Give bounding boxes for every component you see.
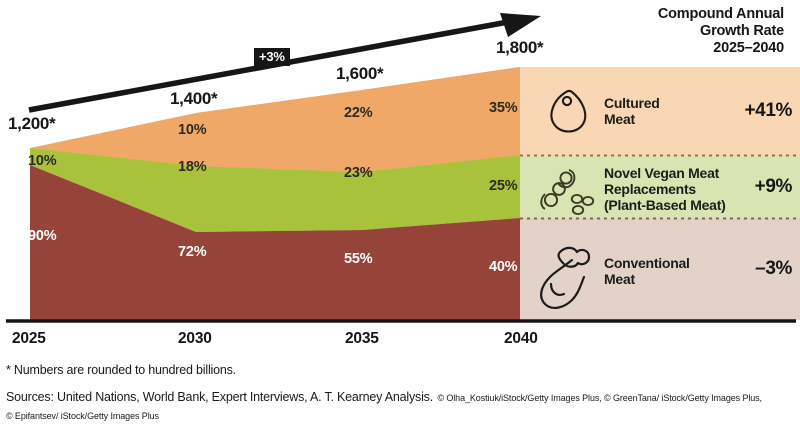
pct-cultured-2035: 22% — [344, 105, 372, 121]
legend-label-cultured: Cultured Meat — [604, 95, 660, 127]
legend-label-vegan-line2: Replacements — [604, 181, 726, 197]
legend-value-conventional: –3% — [730, 258, 792, 280]
pct-vegan-2025: 10% — [28, 153, 56, 169]
total-label-2035: 1,600* — [336, 64, 383, 84]
legend-label-cultured-line1: Cultured — [604, 95, 660, 111]
axis-year-2035: 2035 — [345, 330, 379, 348]
axis-year-2040: 2040 — [504, 330, 538, 348]
axis-year-2025: 2025 — [12, 330, 46, 348]
footnote-sources-main: Sources: United Nations, World Bank, Exp… — [6, 390, 433, 404]
pct-conventional-2040: 40% — [489, 259, 517, 275]
footnote-credits-second: © Epifantsev/ iStock/Getty Images Plus — [6, 411, 159, 421]
total-cagr-badge: +3% — [254, 48, 290, 66]
pct-vegan-2035: 23% — [344, 165, 372, 181]
pct-conventional-2035: 55% — [344, 251, 372, 267]
legend-label-conventional: Conventional Meat — [604, 255, 690, 287]
cagr-header-line3: 2025–2040 — [658, 40, 784, 57]
legend-label-cultured-line2: Meat — [604, 111, 660, 127]
cagr-header-line2: Growth Rate — [658, 23, 784, 40]
legend-label-conventional-line2: Meat — [604, 271, 690, 287]
pct-vegan-2040: 25% — [489, 178, 517, 194]
pct-cultured-2040: 35% — [489, 100, 517, 116]
pct-conventional-2030: 72% — [178, 244, 206, 260]
total-label-2030: 1,400* — [170, 89, 217, 109]
cagr-header: Compound Annual Growth Rate 2025–2040 — [658, 6, 784, 57]
footnote-credits-second-row: © Epifantsev/ iStock/Getty Images Plus — [6, 406, 159, 424]
total-label-2040: 1,800* — [496, 38, 543, 58]
axis-year-2030: 2030 — [178, 330, 212, 348]
footnote-rounding: * Numbers are rounded to hundred billion… — [6, 363, 236, 377]
legend-label-vegan-line3: (Plant-Based Meat) — [604, 197, 726, 213]
infographic-stage: 1,200* 1,400* 1,600* 1,800* +3% 10% 22% … — [0, 0, 800, 422]
pct-conventional-2025: 90% — [28, 228, 56, 244]
footnote-sources: Sources: United Nations, World Bank, Exp… — [6, 388, 762, 406]
legend-label-vegan: Novel Vegan Meat Replacements (Plant-Bas… — [604, 165, 726, 213]
pct-cultured-2030: 10% — [178, 122, 206, 138]
legend-label-conventional-line1: Conventional — [604, 255, 690, 271]
legend-label-vegan-line1: Novel Vegan Meat — [604, 165, 726, 181]
legend-value-cultured: +41% — [730, 100, 792, 122]
total-label-2025: 1,200* — [8, 114, 55, 134]
cagr-header-line1: Compound Annual — [658, 6, 784, 23]
legend-value-vegan: +9% — [730, 176, 792, 198]
pct-vegan-2030: 18% — [178, 159, 206, 175]
footnote-credits-inline: © Olha_Kostiuk/iStock/Getty Images Plus,… — [437, 393, 762, 403]
